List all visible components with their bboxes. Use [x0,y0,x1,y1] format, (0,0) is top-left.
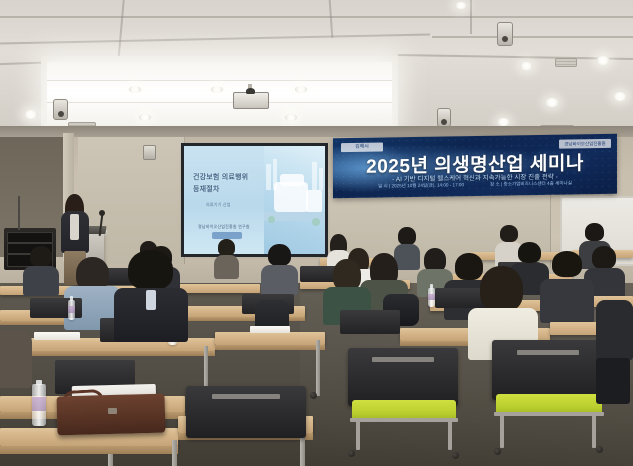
desk [215,332,325,345]
chair-frame [350,418,458,422]
mic-stand [18,196,20,230]
ceiling-light-panel [47,62,392,132]
chair-caster [494,448,501,455]
chair-frame [494,412,604,416]
paper-handout [250,326,290,333]
chair-back [492,340,604,400]
water-bottle [428,288,435,307]
downlight [24,110,38,119]
chair-caster [348,450,355,457]
downlight [520,62,533,70]
wall-speaker [143,145,156,160]
chair-caster [310,392,317,399]
desk-edge [0,446,178,454]
briefcase-clasp [108,408,117,414]
seminar-room-photo: 건강보험 의료행위 등재절차 의료기기 산업 경남바이오산업진흥원 연구원 김해… [0,0,633,466]
projector-lens-icon [246,88,255,94]
downlight [596,56,610,65]
downlight [613,92,627,101]
leather-briefcase [57,394,166,436]
ceiling-projector [233,92,269,109]
downlight [545,98,559,107]
desk-edge [0,351,215,356]
desk-leg [316,340,320,396]
chair-back [186,386,306,438]
desk-leg [108,454,113,466]
chair-caster [596,446,603,453]
water-bottle [32,384,46,426]
desk-leg [172,440,177,466]
laptop-back [340,310,400,334]
ceiling-vent [555,58,577,67]
podium-microphone [99,210,105,216]
downlight [455,2,467,9]
ceiling-speaker [497,22,513,46]
event-banner: 김해시 경남바이오산업진흥원 2025년 의생명산업 세미나 - AI 기반 디… [333,134,617,198]
chair-caster [452,452,459,459]
chair-back [348,348,458,406]
water-bottle [68,300,75,320]
paper-handout [34,332,80,340]
projection-screen-frame [181,143,328,257]
banner-venue: 장 소 | 중소기업비즈니스센터 4층 세미나실 [490,180,572,187]
desk-leg [300,436,305,466]
ceiling-speaker [437,108,451,127]
desk-edge [215,345,325,350]
ceiling-speaker [53,99,68,120]
downlight [497,118,510,126]
